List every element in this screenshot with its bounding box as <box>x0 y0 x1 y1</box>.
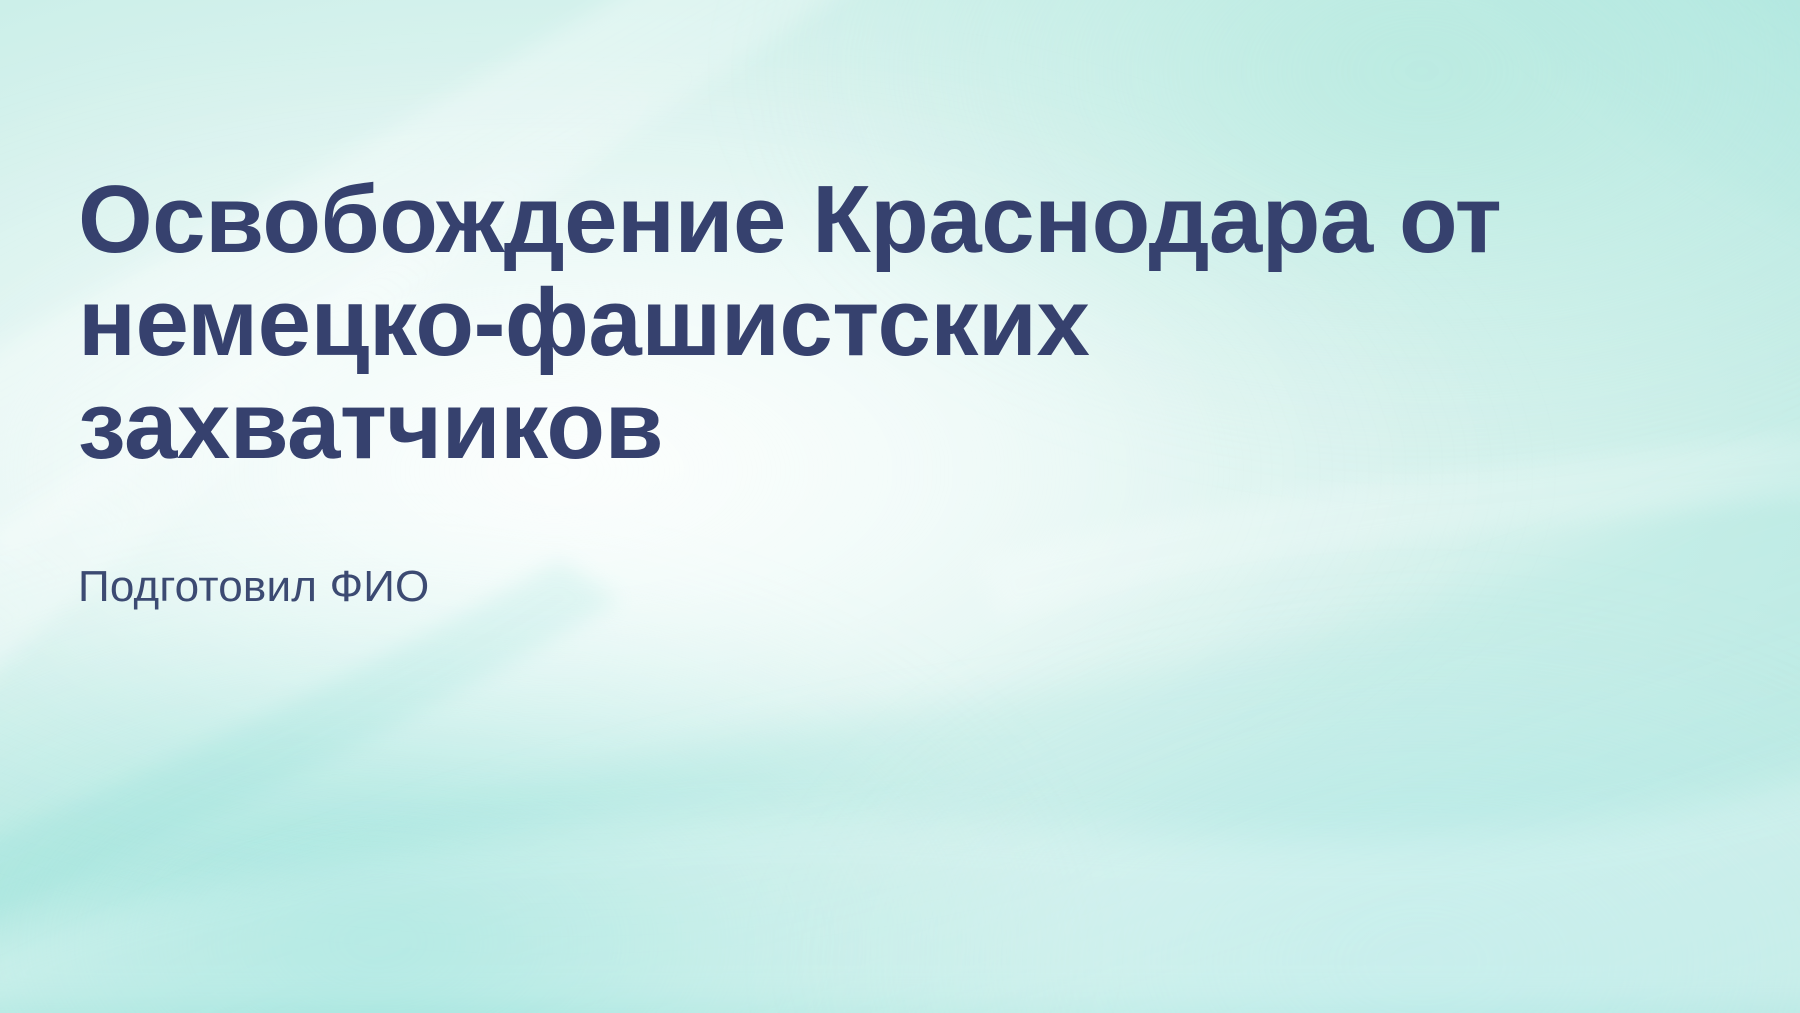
slide-subtitle: Подготовил ФИО <box>78 561 1578 613</box>
title-slide: Освобождение Краснодара от немецко-фашис… <box>0 0 1800 1013</box>
page-title: Освобождение Краснодара от немецко-фашис… <box>78 168 1578 477</box>
slide-content: Освобождение Краснодара от немецко-фашис… <box>78 168 1578 613</box>
mint-wave-bottom-left <box>0 547 1080 1013</box>
mint-wave-bottom-right <box>792 608 1800 1013</box>
